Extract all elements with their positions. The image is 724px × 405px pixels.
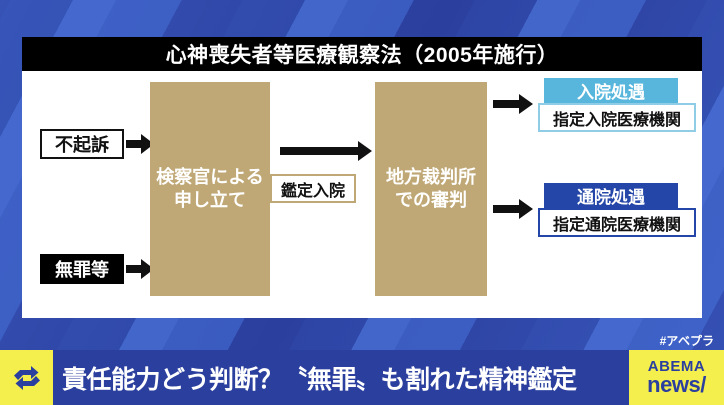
arrow-prosecutor-to-court — [280, 141, 372, 161]
news-ticker-banner: 責任能力どう判断？〝無罪〟も割れた精神鑑定 ABEMA news/ — [0, 350, 724, 405]
card-title-bar: 心神喪失者等医療観察法（2005年施行） — [22, 37, 702, 71]
outcome-outpatient-treatment: 通院処遇 指定通院医療機関 — [538, 183, 696, 237]
banner-headline: 責任能力どう判断？〝無罪〟も割れた精神鑑定 — [53, 360, 629, 396]
flowchart: 不起訴 無罪等 検察官による 申し立て 鑑定入院 地方裁判所 での審判 — [22, 71, 702, 318]
stage-district-court-hearing-label: 地方裁判所 での審判 — [386, 166, 476, 213]
source-box-not-guilty: 無罪等 — [40, 254, 124, 284]
outcome-outpatient-facility: 指定通院医療機関 — [538, 208, 696, 237]
stage-prosecutor-petition-label: 検察官による 申し立て — [156, 166, 263, 213]
recycle-arrows-icon — [0, 350, 53, 405]
abema-news-logo: ABEMA news/ — [629, 350, 724, 405]
label-forensic-hospitalization: 鑑定入院 — [270, 174, 356, 203]
hashtag-label: #アベプラ — [660, 332, 714, 349]
abema-news-logo-line2: news/ — [647, 374, 706, 396]
stage-district-court-hearing: 地方裁判所 での審判 — [375, 82, 487, 296]
source-box-not-guilty-label: 無罪等 — [55, 256, 109, 282]
source-box-non-prosecution-label: 不起訴 — [55, 131, 109, 157]
source-box-non-prosecution: 不起訴 — [40, 129, 124, 159]
arrow-court-to-inpatient — [493, 94, 533, 114]
outcome-outpatient-head: 通院処遇 — [544, 183, 678, 208]
outcome-inpatient-head: 入院処遇 — [544, 78, 678, 103]
arrow-court-to-outpatient — [493, 199, 533, 219]
page-title: 心神喪失者等医療観察法（2005年施行） — [166, 39, 559, 69]
infographic-card: 心神喪失者等医療観察法（2005年施行） 不起訴 無罪等 検察官による 申し立て… — [22, 37, 702, 318]
stage-prosecutor-petition: 検察官による 申し立て — [150, 82, 270, 296]
outcome-inpatient-treatment: 入院処遇 指定入院医療機関 — [538, 78, 696, 132]
label-forensic-hospitalization-text: 鑑定入院 — [281, 177, 345, 201]
outcome-inpatient-facility: 指定入院医療機関 — [538, 103, 696, 132]
